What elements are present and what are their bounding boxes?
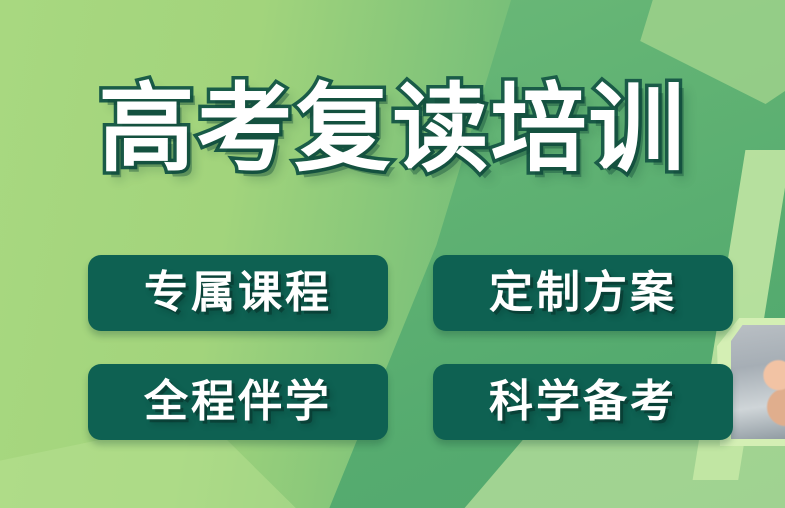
- feature-pill-custom-plan[interactable]: 定制方案: [433, 255, 733, 331]
- feature-pill-full-course-companion[interactable]: 全程伴学: [88, 364, 388, 440]
- feature-pill-scientific-prep[interactable]: 科学备考: [433, 364, 733, 440]
- feature-pill-grid: 专属课程 定制方案 全程伴学 科学备考: [88, 255, 733, 440]
- feature-pill-label: 定制方案: [489, 271, 677, 315]
- feature-pill-label: 专属课程: [144, 271, 332, 315]
- promo-banner: 高考复读培训 专属课程 定制方案 全程伴学 科学备考: [0, 0, 785, 508]
- feature-pill-label: 全程伴学: [144, 380, 332, 424]
- student-photo-image: [731, 325, 785, 439]
- page-title: 高考复读培训: [0, 82, 785, 178]
- feature-pill-exclusive-courses[interactable]: 专属课程: [88, 255, 388, 331]
- feature-pill-label: 科学备考: [489, 380, 677, 424]
